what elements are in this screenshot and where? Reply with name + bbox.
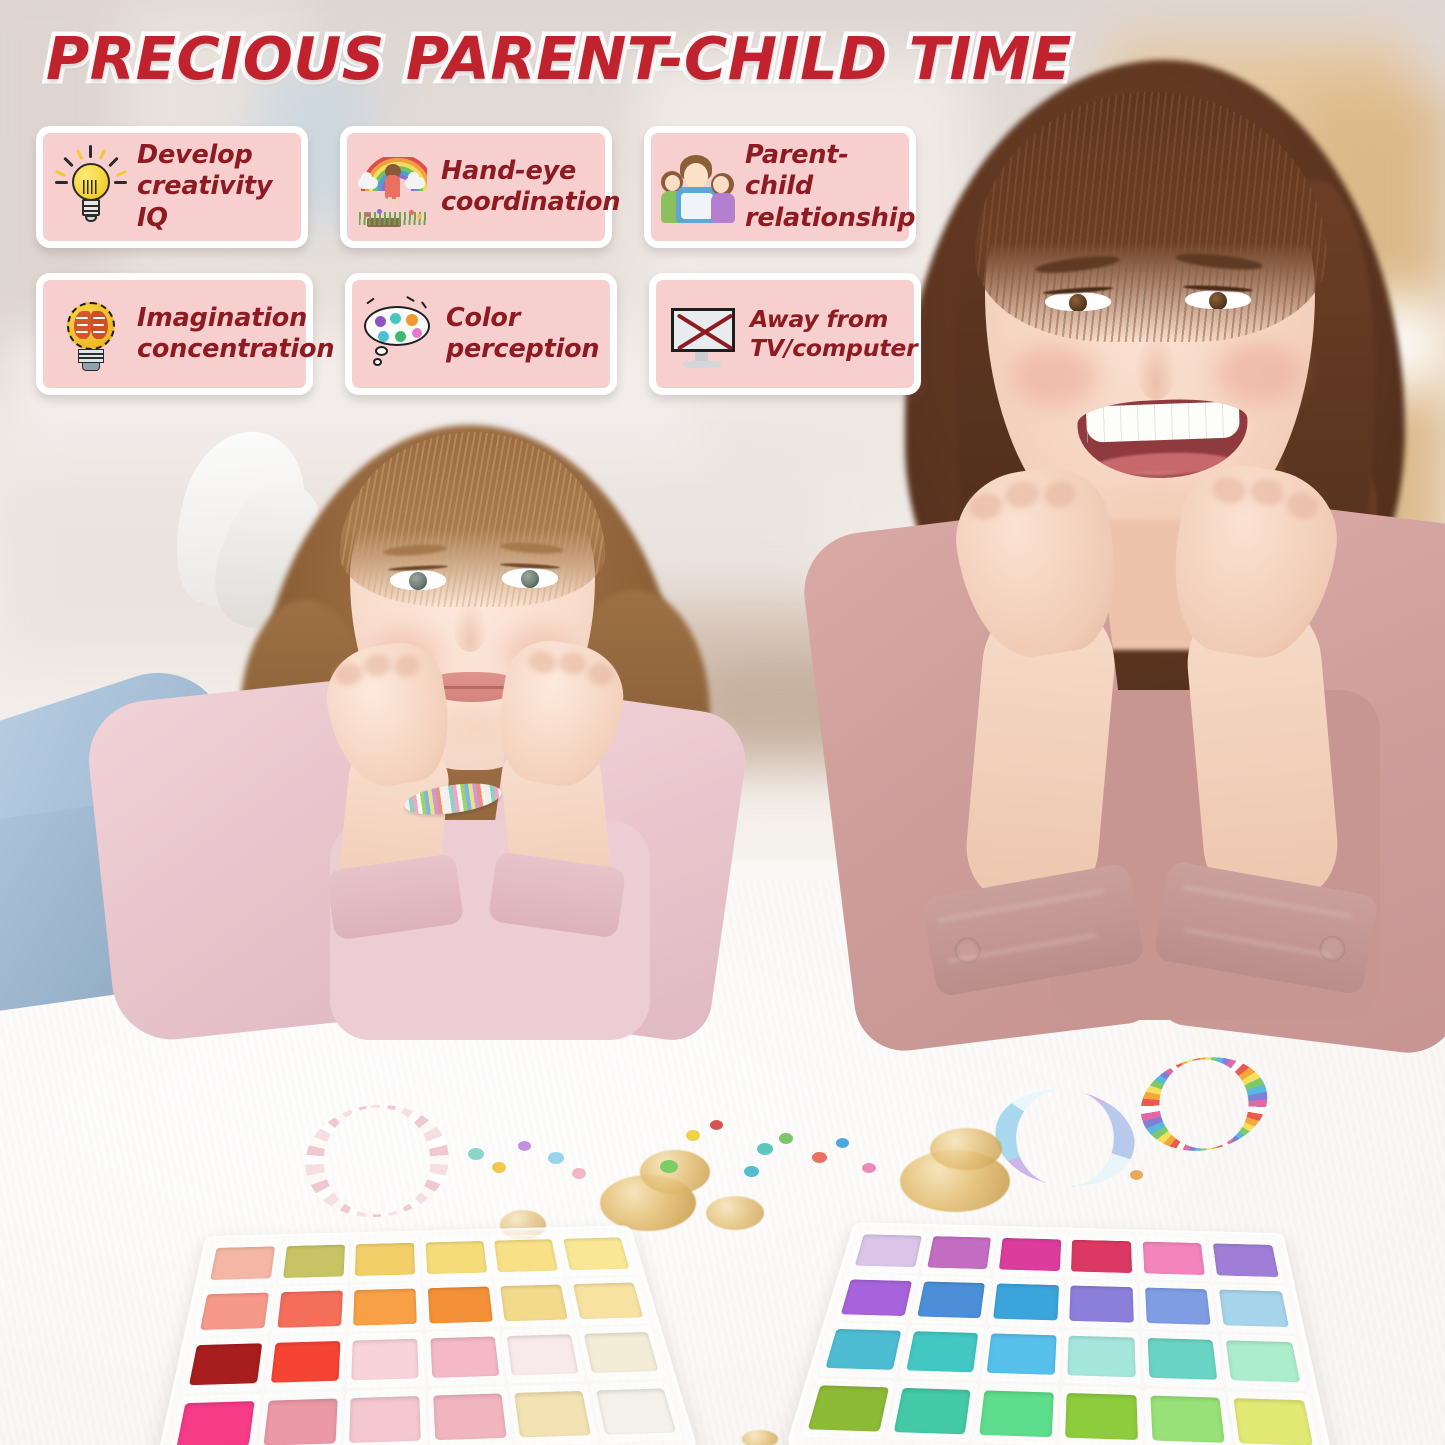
bead-compartment	[1060, 1386, 1143, 1445]
clay-beads	[433, 1393, 506, 1440]
bead-compartment	[170, 1394, 260, 1445]
bead-compartment	[590, 1381, 683, 1442]
bead-compartment	[272, 1285, 347, 1334]
bead-compartment	[278, 1240, 349, 1284]
badge-away-from-tv[interactable]: Away from TV/computer	[649, 273, 921, 395]
benefits-row-1: Develop creativity IQ	[36, 126, 916, 248]
color-palette-thought-icon	[362, 294, 436, 374]
clay-beads	[979, 1390, 1053, 1437]
clay-beads	[352, 1339, 419, 1381]
clay-beads	[826, 1329, 901, 1370]
clay-beads	[999, 1238, 1061, 1271]
mother-eye-left	[1045, 292, 1111, 311]
clay-beads	[1071, 1240, 1132, 1273]
bead-compartment	[1065, 1280, 1138, 1329]
brain-lightbulb-icon	[53, 294, 127, 374]
benefits-badge-grid: Develop creativity IQ	[36, 126, 916, 420]
bead-compartment	[205, 1242, 280, 1286]
product-marketing-image: PRECIOUS PARENT-CHILD TIME	[0, 0, 1445, 1445]
clay-beads	[993, 1283, 1059, 1320]
girl-eye-left	[390, 570, 446, 590]
bead-compartment	[1228, 1391, 1319, 1445]
bead-compartment	[922, 1231, 996, 1274]
bead-compartment	[900, 1325, 984, 1379]
clay-beads	[906, 1331, 979, 1372]
bead-compartment	[981, 1327, 1061, 1381]
clay-beads	[263, 1398, 337, 1445]
girl-nose	[452, 598, 488, 652]
bead-compartment	[423, 1281, 497, 1329]
bead-compartment	[265, 1335, 345, 1390]
bead-compartment	[994, 1233, 1065, 1277]
badge-hand-eye-coordination[interactable]: Hand-eye coordination	[340, 126, 612, 248]
badge-label: Imagination concentration	[137, 303, 334, 365]
father-figure-face	[684, 163, 708, 189]
clay-beads	[210, 1247, 275, 1281]
page-title: PRECIOUS PARENT-CHILD TIME	[46, 24, 1072, 93]
clay-beads	[1068, 1336, 1136, 1378]
clay-beads	[927, 1236, 991, 1269]
clay-beads	[277, 1290, 342, 1327]
clay-beads	[494, 1239, 558, 1272]
bead-compartment	[1063, 1330, 1141, 1385]
badge-label: Develop creativity IQ	[137, 140, 289, 233]
girl-eye-right	[502, 568, 558, 588]
bead-compartment	[1214, 1284, 1294, 1333]
bead-compartment	[1221, 1334, 1306, 1389]
clay-beads	[1070, 1285, 1134, 1322]
mother-nose	[1135, 330, 1177, 400]
clay-beads	[189, 1343, 262, 1385]
bead-compartment	[568, 1277, 649, 1325]
clay-beads	[808, 1385, 889, 1431]
bead-compartment	[835, 1274, 917, 1322]
badge-develop-creativity[interactable]: Develop creativity IQ	[36, 126, 308, 248]
bead-compartment	[558, 1233, 634, 1276]
clay-beads	[1213, 1244, 1279, 1278]
bead-compartment	[1145, 1388, 1231, 1445]
clay-beads	[428, 1286, 493, 1323]
bead-compartment	[502, 1328, 585, 1382]
clay-beads	[563, 1237, 629, 1270]
clay-beads	[987, 1334, 1057, 1376]
family-hug-icon	[661, 147, 735, 227]
bead-compartment	[183, 1337, 267, 1392]
bead-compartment	[819, 1323, 907, 1377]
mother-cheek-left	[1012, 345, 1098, 407]
bead-compartment	[578, 1326, 665, 1380]
clay-beads	[500, 1284, 567, 1321]
badge-label: Color perception	[446, 303, 599, 365]
bead-compartment	[801, 1378, 895, 1439]
bead-compartment	[988, 1278, 1063, 1327]
rainbow-child-icon	[357, 147, 431, 227]
bead-compartment	[344, 1389, 426, 1445]
clay-beads	[1147, 1338, 1217, 1380]
bead-compartment	[195, 1287, 274, 1336]
mother-teeth	[1085, 401, 1239, 442]
child-figure-face	[713, 176, 729, 193]
clay-beads	[841, 1279, 912, 1316]
badge-parent-child-relationship[interactable]: Parent-child relationship	[644, 126, 916, 248]
bead-compartment	[509, 1384, 597, 1445]
badge-label: Hand-eye coordination	[441, 156, 620, 218]
clay-beads	[349, 1396, 421, 1443]
badge-label: Away from TV/computer	[750, 305, 917, 362]
bead-compartment	[850, 1230, 927, 1273]
clay-beads	[855, 1234, 922, 1267]
clay-beads	[1143, 1242, 1206, 1276]
bead-compartment	[351, 1238, 420, 1282]
badge-imagination-concentration[interactable]: Imagination concentration	[36, 273, 313, 395]
bead-compartment	[496, 1279, 574, 1327]
bead-compartment	[1138, 1237, 1210, 1281]
bead-compartment	[1140, 1282, 1216, 1331]
badge-label: Parent-child relationship	[745, 140, 915, 233]
bead-compartment	[257, 1391, 342, 1445]
bead-compartment	[347, 1333, 424, 1388]
cool-tone-bead-box	[785, 1222, 1334, 1445]
bead-compartment	[887, 1381, 976, 1442]
bead-compartment	[1067, 1235, 1136, 1279]
lightbulb-icon	[53, 147, 127, 227]
clay-beads	[1219, 1289, 1289, 1327]
clay-beads	[426, 1241, 487, 1274]
clay-beads	[1150, 1395, 1225, 1442]
bead-compartment	[421, 1236, 491, 1280]
clay-beads	[283, 1245, 345, 1279]
clay-beads	[353, 1288, 416, 1325]
bead-compartment	[973, 1383, 1058, 1444]
benefits-row-2: Imagination concentration	[36, 273, 916, 395]
clay-beads	[584, 1332, 659, 1373]
mother-cheek-right	[1215, 342, 1301, 404]
bead-compartment	[428, 1386, 512, 1445]
clay-beads	[507, 1334, 579, 1375]
clay-beads	[271, 1341, 340, 1383]
bead-compartment	[1208, 1239, 1283, 1283]
clay-beads	[893, 1387, 970, 1434]
clay-beads	[355, 1243, 415, 1276]
bead-compartment	[426, 1331, 505, 1385]
cuff-button	[1317, 934, 1347, 964]
mother-eye-right	[1185, 290, 1251, 309]
clay-beads	[1066, 1393, 1138, 1440]
warm-tone-bead-box	[155, 1225, 698, 1445]
clay-beads	[1233, 1398, 1312, 1445]
clay-beads	[430, 1337, 499, 1379]
clay-beads	[1226, 1340, 1300, 1382]
bead-compartment	[349, 1283, 421, 1332]
clay-beads	[573, 1282, 643, 1319]
bead-compartment	[1143, 1332, 1224, 1387]
clay-beads	[200, 1292, 269, 1330]
clay-beads	[917, 1281, 985, 1318]
clay-beads	[177, 1401, 255, 1445]
clay-beads	[1145, 1287, 1211, 1324]
bead-compartment	[911, 1276, 990, 1324]
bead-compartment	[490, 1234, 563, 1277]
no-tv-icon	[666, 294, 740, 374]
clay-beads	[596, 1388, 676, 1434]
clay-beads	[515, 1391, 592, 1438]
badge-color-perception[interactable]: Color perception	[345, 273, 617, 395]
